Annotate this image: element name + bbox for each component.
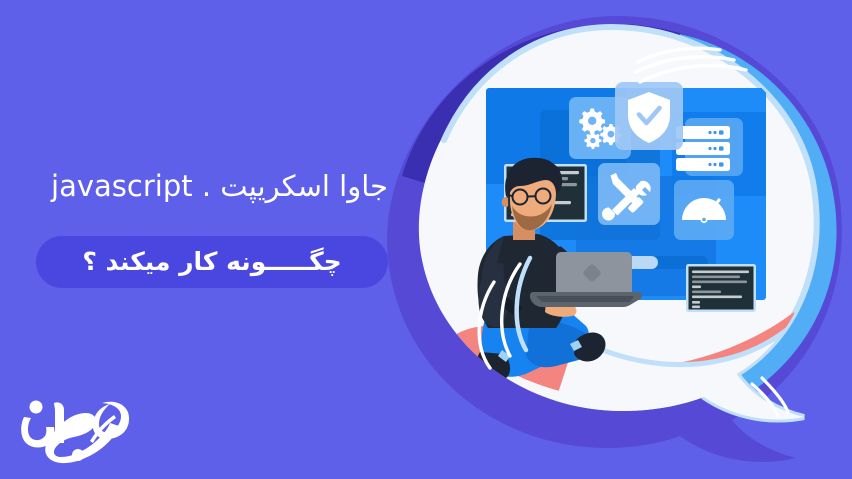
tile-tools [598, 163, 660, 225]
page-title: جاوا اسکریپت . javascript [0, 168, 388, 204]
text-block: جاوا اسکریپت . javascript چگـــــونه کار… [0, 168, 400, 204]
illustration-svg [380, 0, 852, 479]
subhead-pill[interactable]: چگـــــونه کار میکند ؟ [36, 236, 388, 288]
tile-gauge [674, 180, 734, 240]
tile-server [676, 118, 743, 176]
server-rack-icon [676, 126, 730, 171]
logo[interactable] [16, 391, 136, 465]
banner-canvas: جاوا اسکریپت . javascript چگـــــونه کار… [0, 0, 852, 479]
code-window-right [686, 264, 756, 312]
tile-shield [615, 82, 683, 150]
logo-icon [16, 391, 136, 465]
illustration [380, 0, 852, 479]
subhead-label: چگـــــونه کار میکند ؟ [82, 249, 341, 274]
